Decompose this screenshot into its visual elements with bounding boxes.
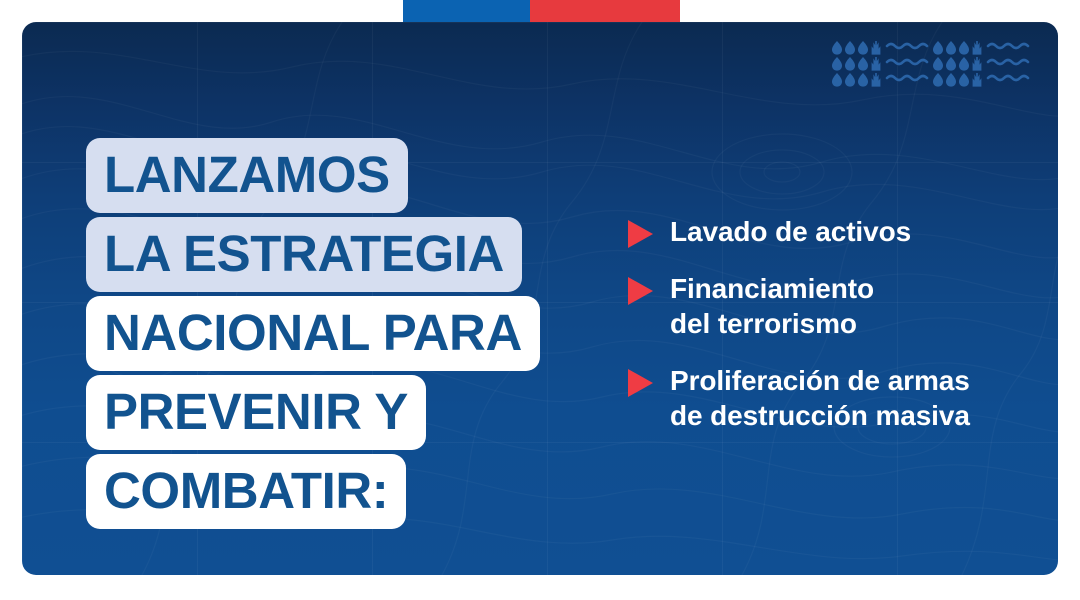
triangle-bullet-icon [628, 277, 653, 305]
list-item: Lavado de activos [628, 214, 970, 249]
headline-block: LANZAMOS LA ESTRATEGIA NACIONAL PARA PRE… [86, 138, 540, 529]
flag-ribbon [0, 0, 1080, 22]
list-item: Proliferación de armas de destrucción ma… [628, 363, 970, 433]
bullet-list: Lavado de activos Financiamiento del ter… [628, 214, 970, 433]
bullet-label-2: Financiamiento del terrorismo [670, 271, 874, 341]
headline-line-4: PREVENIR Y [86, 375, 426, 450]
bullet-label-1: Lavado de activos [670, 214, 911, 249]
flag-red-block [530, 0, 680, 22]
gobierno-de-chile-pattern-logo [830, 38, 1036, 90]
headline-line-1: LANZAMOS [86, 138, 408, 213]
flag-blue-block [403, 0, 530, 22]
triangle-bullet-icon [628, 220, 653, 248]
triangle-bullet-icon [628, 369, 653, 397]
list-item: Financiamiento del terrorismo [628, 271, 970, 341]
headline-line-5: COMBATIR: [86, 454, 406, 529]
slide-card: LANZAMOS LA ESTRATEGIA NACIONAL PARA PRE… [22, 22, 1058, 575]
headline-line-2: LA ESTRATEGIA [86, 217, 522, 292]
headline-line-3: NACIONAL PARA [86, 296, 540, 371]
bullet-label-3: Proliferación de armas de destrucción ma… [670, 363, 970, 433]
